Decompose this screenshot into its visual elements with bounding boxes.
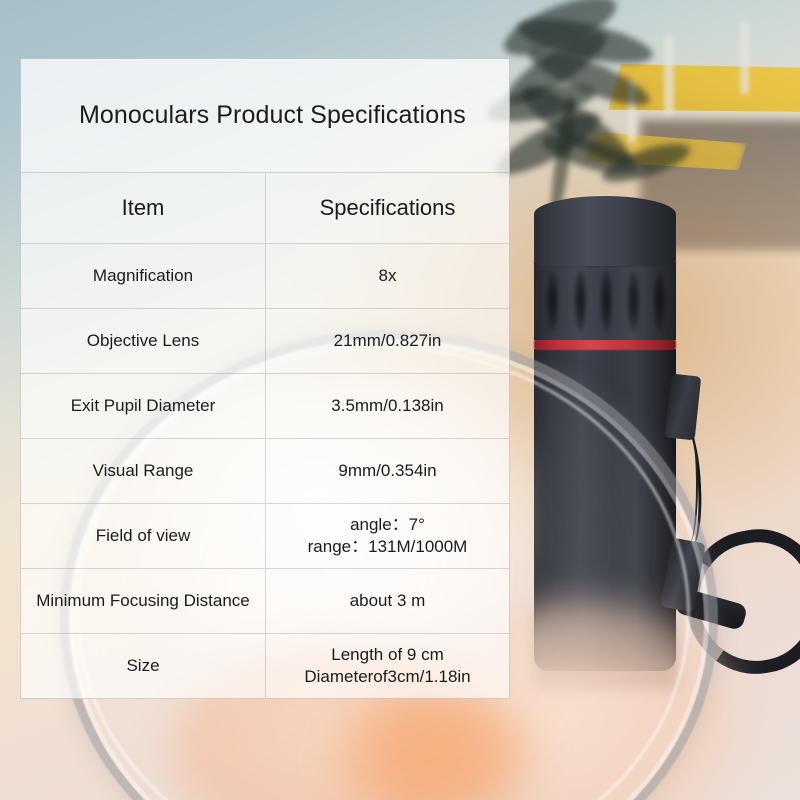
row-value-line: Length of 9 cm <box>331 644 443 666</box>
row-value-line: 21mm/0.827in <box>334 330 442 352</box>
grip-dimple <box>574 270 587 332</box>
column-header-specifications: Specifications <box>266 173 509 243</box>
row-value: 9mm/0.354in <box>266 439 509 503</box>
table-row: Size Length of 9 cm Diameterof3cm/1.18in <box>21 634 509 698</box>
row-value: Length of 9 cm Diameterof3cm/1.18in <box>266 634 509 698</box>
row-label: Minimum Focusing Distance <box>21 569 266 633</box>
grip-dimple <box>653 270 666 332</box>
row-label: Visual Range <box>21 439 266 503</box>
row-value-line: 9mm/0.354in <box>338 460 436 482</box>
row-label: Magnification <box>21 244 266 308</box>
hut-post-1 <box>664 36 674 114</box>
row-label: Size <box>21 634 266 698</box>
row-value-line: angle：7° <box>350 514 425 536</box>
row-value-line: 3.5mm/0.138in <box>331 395 443 417</box>
row-value: about 3 m <box>266 569 509 633</box>
table-header-row: Item Specifications <box>21 173 509 244</box>
table-row: Minimum Focusing Distance about 3 m <box>21 569 509 634</box>
row-label: Field of view <box>21 504 266 568</box>
table-row: Exit Pupil Diameter 3.5mm/0.138in <box>21 374 509 439</box>
product-spec-image: Monoculars Product Specifications Item S… <box>0 0 800 800</box>
table-row: Field of view angle：7° range：131M/1000M <box>21 504 509 569</box>
row-value: angle：7° range：131M/1000M <box>266 504 509 568</box>
row-value: 3.5mm/0.138in <box>266 374 509 438</box>
table-row: Objective Lens 21mm/0.827in <box>21 309 509 374</box>
table-row: Visual Range 9mm/0.354in <box>21 439 509 504</box>
grip-dimple <box>600 270 613 332</box>
hut-post-2 <box>740 22 749 94</box>
monocular-grip <box>534 262 676 340</box>
table-row: Magnification 8x <box>21 244 509 309</box>
row-value-line: range：131M/1000M <box>308 536 468 558</box>
row-label: Objective Lens <box>21 309 266 373</box>
row-value: 21mm/0.827in <box>266 309 509 373</box>
row-label: Exit Pupil Diameter <box>21 374 266 438</box>
column-header-item: Item <box>21 173 266 243</box>
monocular-accent-ring <box>534 339 676 350</box>
grip-dimple <box>546 270 559 332</box>
specifications-table: Monoculars Product Specifications Item S… <box>20 58 510 699</box>
row-value-line: about 3 m <box>350 590 426 612</box>
monocular-eyepiece-cap <box>534 196 676 266</box>
row-value-line: 8x <box>379 265 397 287</box>
row-value-line: Diameterof3cm/1.18in <box>304 666 470 688</box>
grip-dimple <box>627 270 640 332</box>
row-value: 8x <box>266 244 509 308</box>
table-title: Monoculars Product Specifications <box>21 59 509 173</box>
